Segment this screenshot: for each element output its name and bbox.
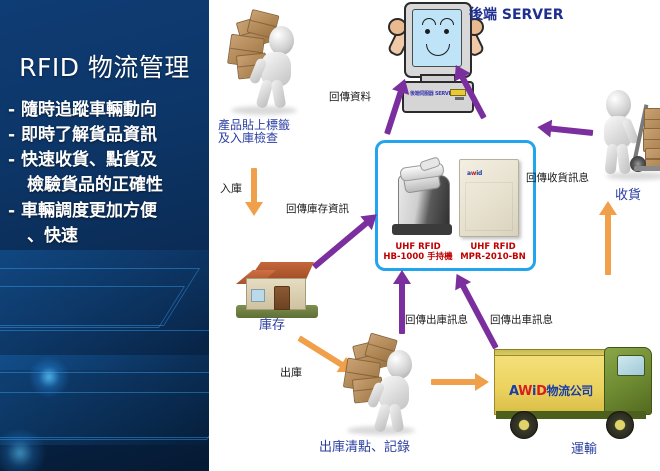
bullet-item-4: - 車輛調度更加方便: [8, 199, 208, 224]
arrow-report-stock: [314, 213, 378, 267]
uhf-rfid-handheld-icon: [390, 157, 454, 235]
flow-label-report-dispatch: 回傳出車訊息: [490, 314, 553, 327]
bullet-item-3: - 快速收貨、點貨及: [8, 148, 208, 173]
tagging-worker-icon: [225, 8, 305, 118]
bullet-item-1: - 隨時追蹤車輛動向: [8, 98, 208, 123]
flow-label-report-stock: 回傳庫存資訊: [286, 203, 349, 216]
uhf-rfid-panel-reader-icon: awid: [459, 159, 519, 237]
flow-label-outbound: 出庫: [280, 366, 302, 380]
device2-caption-line2: MPR-2010-BN: [455, 252, 531, 263]
bullet-item-3-cont: 檢驗貨品的正確性: [8, 173, 208, 198]
outbound-worker-icon: [339, 334, 425, 436]
bullet-item-2: - 即時了解貨品資訊: [8, 123, 208, 148]
left-title-panel: RFID 物流管理 - 隨時追蹤車輛動向 - 即時了解貨品資訊 - 快速收貨、點…: [0, 0, 209, 471]
device1-caption-line2: HB-1000 手持機: [382, 252, 454, 263]
warehouse-house-icon: [234, 256, 320, 318]
flow-label-report-receiving: 回傳收貨訊息: [526, 172, 589, 185]
flow-label-report-outbound: 回傳出庫訊息: [405, 314, 468, 327]
slide-canvas: RFID 物流管理 - 隨時追蹤車輛動向 - 即時了解貨品資訊 - 快速收貨、點…: [0, 0, 660, 471]
server-label: 後端 SERVER: [469, 4, 563, 24]
outbound-label: 出庫清點、記錄: [319, 440, 410, 457]
delivery-truck-icon: AWiD物流公司: [494, 345, 654, 441]
page-title: RFID 物流管理: [0, 48, 209, 84]
transport-label: 運輸: [571, 442, 597, 459]
bullet-list: - 隨時追蹤車輛動向 - 即時了解貨品資訊 - 快速收貨、點貨及 檢驗貨品的正確…: [8, 98, 208, 249]
server-screen-text: 後端伺服器 SERVER: [410, 90, 455, 97]
flow-diagram: 後端伺服器 SERVER 後端 SERVER 產品貼上標籤 及入庫檢查 入庫: [209, 0, 660, 471]
receiving-worker-icon: [594, 88, 660, 180]
rfid-equipment-box: awid UHF RFID HB-1000 手持機 UHF RFID MPR-2…: [375, 140, 536, 271]
tagging-label-line2: 及入庫檢查: [218, 131, 278, 147]
device2-caption: UHF RFID MPR-2010-BN: [455, 242, 531, 263]
device1-caption-line1: UHF RFID: [382, 242, 454, 253]
receiving-label: 收貨: [615, 188, 641, 205]
device2-caption-line1: UHF RFID: [455, 242, 531, 253]
arrow-report-dispatch: [456, 272, 496, 348]
flow-label-report-data: 回傳資料: [329, 91, 371, 104]
arrow-report-receiving: [535, 127, 593, 133]
device1-caption: UHF RFID HB-1000 手持機: [382, 242, 454, 263]
warehouse-label: 庫存: [259, 318, 285, 335]
bullet-item-4-cont: 、快速: [8, 224, 208, 249]
truck-logo: AWiD物流公司: [509, 382, 593, 399]
flow-label-inbound: 入庫: [220, 182, 242, 196]
